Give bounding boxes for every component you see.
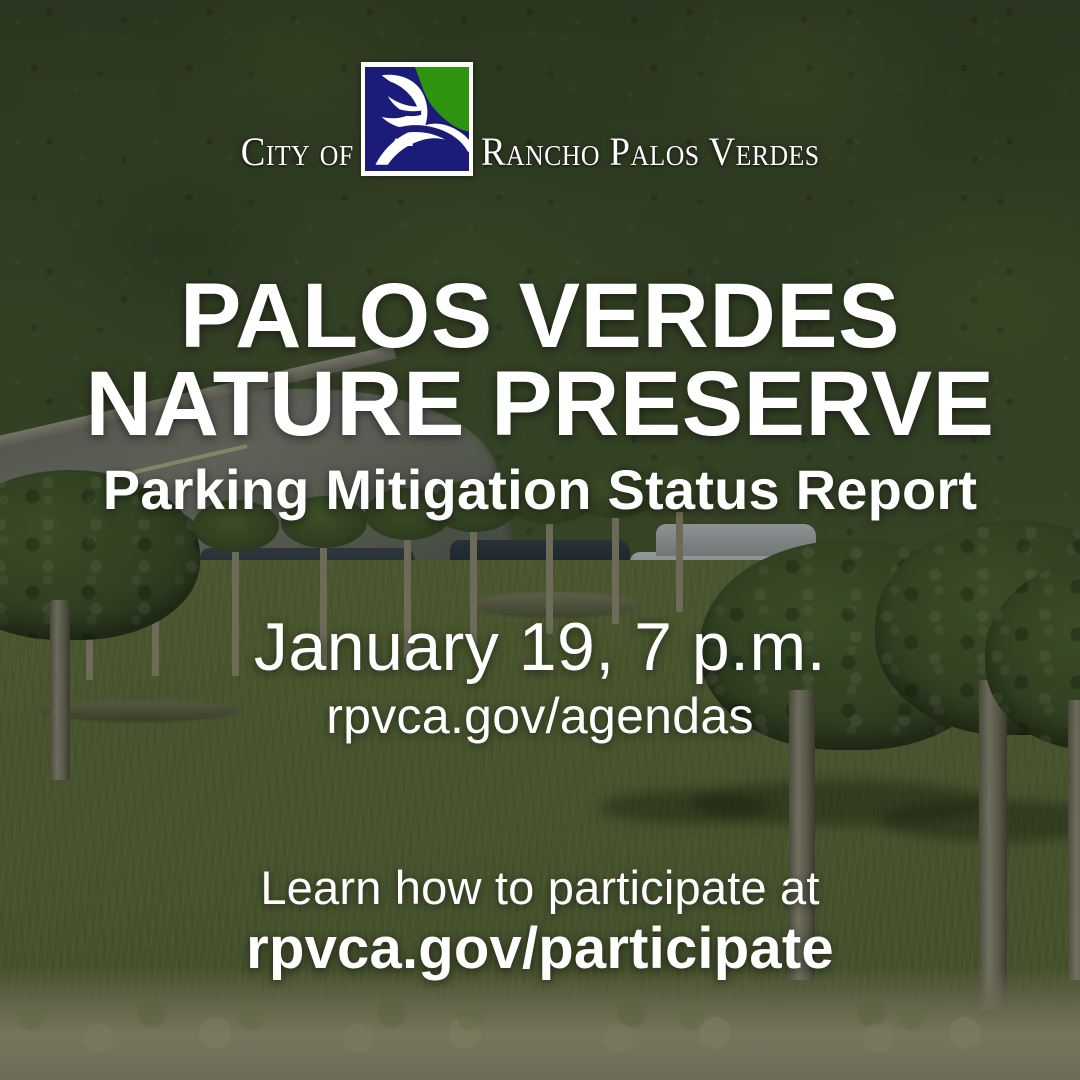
meeting-date-time: January 19, 7 p.m. <box>0 612 1080 683</box>
participate-prompt: Learn how to participate at <box>0 862 1080 914</box>
meeting-details-block: January 19, 7 p.m. rpvca.gov/agendas <box>0 612 1080 744</box>
participate-url-link[interactable]: rpvca.gov/participate <box>0 918 1080 981</box>
rpv-pelican-emblem-icon <box>361 62 473 176</box>
logo-city-of-text: City of <box>241 132 354 176</box>
agenda-url-link[interactable]: rpvca.gov/agendas <box>0 689 1080 744</box>
participate-block: Learn how to participate at rpvca.gov/pa… <box>0 862 1080 980</box>
logo-city-name-text: Rancho Palos Verdes <box>481 132 820 176</box>
headline-subtitle: Parking Mitigation Status Report <box>0 461 1080 520</box>
city-logo-lockup: City of Rancho Palos Verdes <box>0 62 1080 176</box>
headline-line-1: PALOS VERDES <box>0 272 1080 360</box>
headline-block: PALOS VERDES NATURE PRESERVE Parking Mit… <box>0 272 1080 519</box>
poster-content: City of Rancho Palos Verdes PALOS VERDES… <box>0 0 1080 1080</box>
event-announcement-poster: City of Rancho Palos Verdes PALOS VERDES… <box>0 0 1080 1080</box>
headline-line-2: NATURE PRESERVE <box>0 360 1080 448</box>
